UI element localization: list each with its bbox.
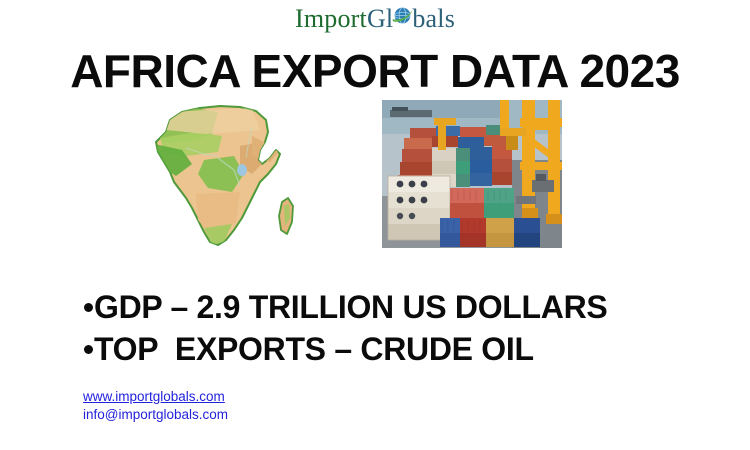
- logo-text-globals-suffix: bals: [412, 4, 455, 33]
- logo-text-import: Import: [295, 4, 367, 33]
- logo-text-globals-prefix: Gl: [367, 4, 393, 33]
- bullet-point-icon: [84, 303, 93, 312]
- website-link[interactable]: www.importglobals.com: [83, 388, 228, 406]
- bullet-text: TOP EXPORTS – CRUDE OIL: [94, 331, 534, 367]
- globe-icon: [392, 5, 413, 26]
- page-title: AFRICA EXPORT DATA 2023: [0, 44, 750, 98]
- bullet-text: GDP – 2.9 TRILLION US DOLLARS: [94, 289, 607, 325]
- bullet-list: GDP – 2.9 TRILLION US DOLLARS TOP EXPORT…: [84, 286, 724, 370]
- bullet-point-icon: [84, 345, 93, 354]
- email-link[interactable]: info@importglobals.com: [83, 406, 228, 424]
- brand-logo: ImportGl bals: [0, 4, 750, 34]
- shipping-container-port-photo: [382, 100, 562, 248]
- africa-map-image: [148, 98, 303, 250]
- list-item: GDP – 2.9 TRILLION US DOLLARS: [84, 286, 724, 328]
- list-item: TOP EXPORTS – CRUDE OIL: [84, 328, 724, 370]
- slide-canvas: ImportGl bals AFRICA EXPORT DATA 2023: [0, 0, 750, 450]
- footer-contact-links: www.importglobals.com info@importglobals…: [83, 388, 228, 424]
